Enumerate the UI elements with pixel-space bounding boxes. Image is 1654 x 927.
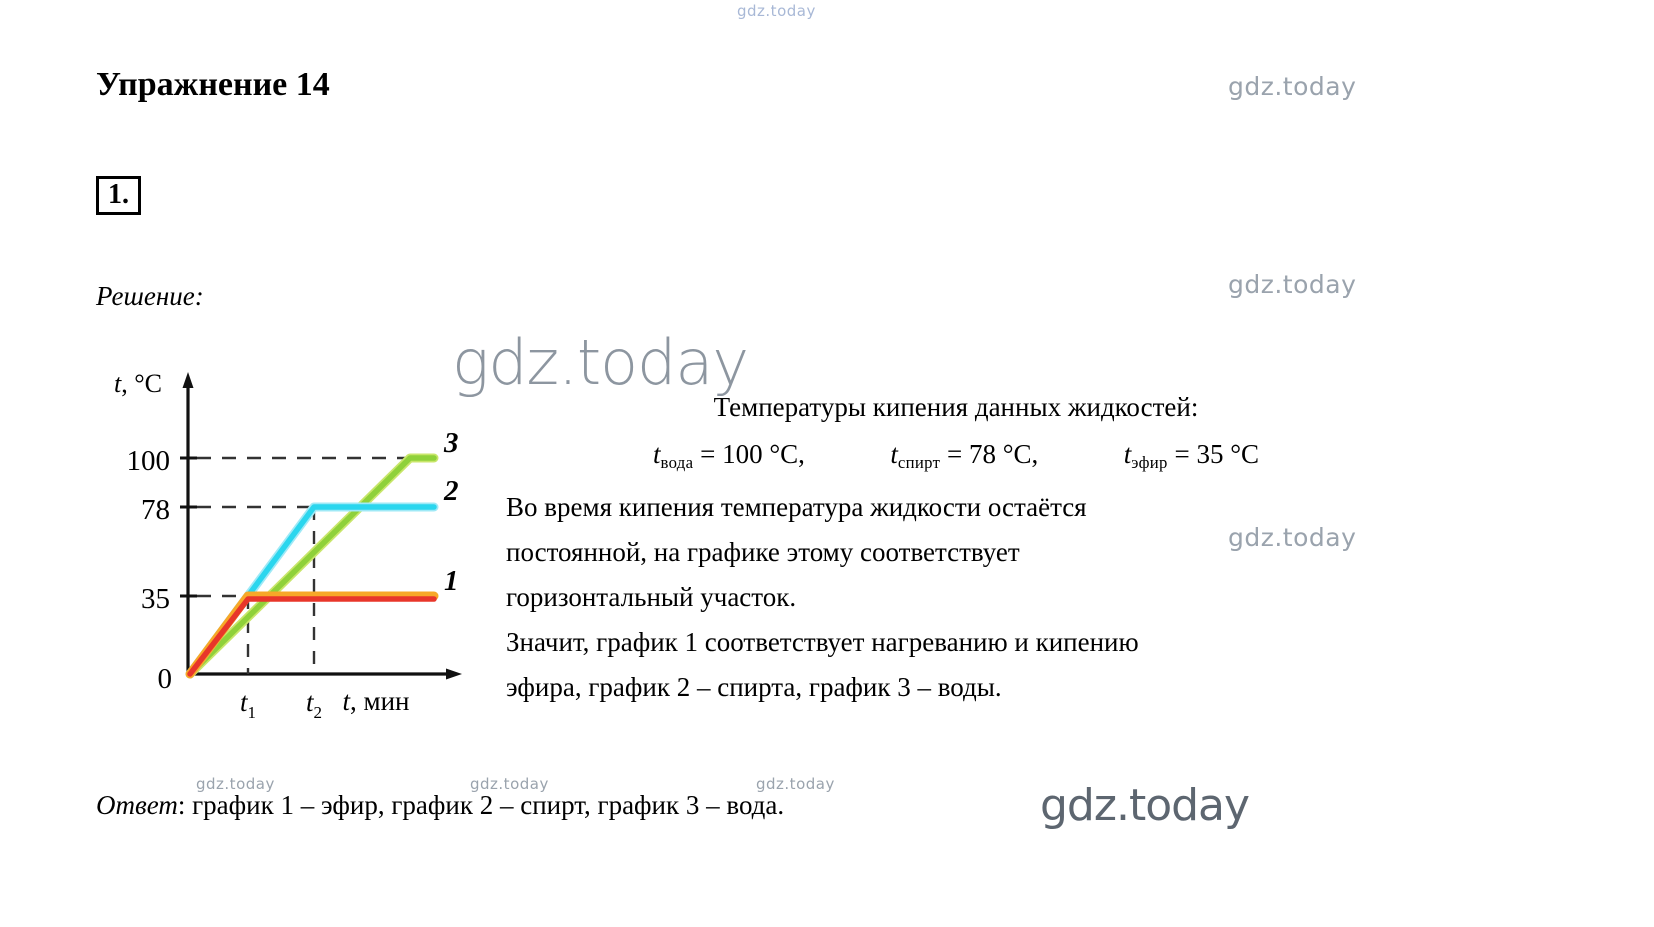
- watermark-right-2: gdz.today: [1228, 270, 1356, 299]
- explanation-line-1: Во время кипения температура жидкости ос…: [506, 485, 1406, 530]
- boiling-point-ether: tэфир = 35 °С: [1124, 439, 1259, 469]
- chart-origin-label: 0: [158, 663, 173, 695]
- chart-series-2: [190, 507, 434, 674]
- chart-series-label-3: 3: [443, 427, 459, 459]
- chart-x-axis-label: t, мин: [343, 686, 410, 716]
- chart-svg: 100 78 35 0 t, °C t1 t2 t, мин 3 2 1: [100, 368, 472, 718]
- temperature-vs-time-chart: 100 78 35 0 t, °C t1 t2 t, мин 3 2 1: [100, 368, 472, 718]
- page-title: Упражнение 14: [96, 66, 330, 104]
- chart-ytick-78: 78: [141, 494, 170, 526]
- task-number-badge: 1.: [96, 176, 141, 215]
- watermark-top: gdz.today: [737, 2, 816, 20]
- answer-label: Ответ: [96, 790, 178, 820]
- chart-series-3: [190, 458, 434, 674]
- boiling-point-alcohol: tспирт = 78 °С,: [890, 439, 1038, 469]
- chart-ytick-35: 35: [141, 583, 170, 615]
- chart-series-label-1: 1: [444, 565, 459, 597]
- chart-series-label-2: 2: [443, 475, 459, 507]
- boiling-point-water: tвода = 100 °С,: [653, 439, 805, 469]
- chart-y-axis-label: t, °C: [114, 369, 162, 398]
- explanation-lead: Температуры кипения данных жидкостей:: [506, 385, 1406, 430]
- explanation-line-3: горизонтальный участок.: [506, 575, 1406, 620]
- explanation-block: Температуры кипения данных жидкостей: tв…: [506, 385, 1406, 710]
- explanation-line-4: Значит, график 1 соответствует нагревани…: [506, 620, 1406, 665]
- watermark-bottom-big: gdz.today: [1040, 780, 1249, 831]
- chart-ytick-100: 100: [127, 445, 171, 477]
- chart-xtick-t1: t1: [240, 687, 256, 718]
- boiling-points-row: tвода = 100 °С, tспирт = 78 °С, tэфир = …: [506, 432, 1406, 485]
- answer-line: Ответ: график 1 – эфир, график 2 – спирт…: [96, 790, 784, 821]
- watermark-right-1: gdz.today: [1228, 72, 1356, 101]
- chart-xtick-t2: t2: [306, 687, 322, 718]
- explanation-line-2: постоянной, на графике этому соответству…: [506, 530, 1406, 575]
- answer-text: : график 1 – эфир, график 2 – спирт, гра…: [178, 790, 784, 820]
- explanation-line-5: эфира, график 2 – спирта, график 3 – вод…: [506, 665, 1406, 710]
- solution-label: Решение:: [96, 281, 204, 312]
